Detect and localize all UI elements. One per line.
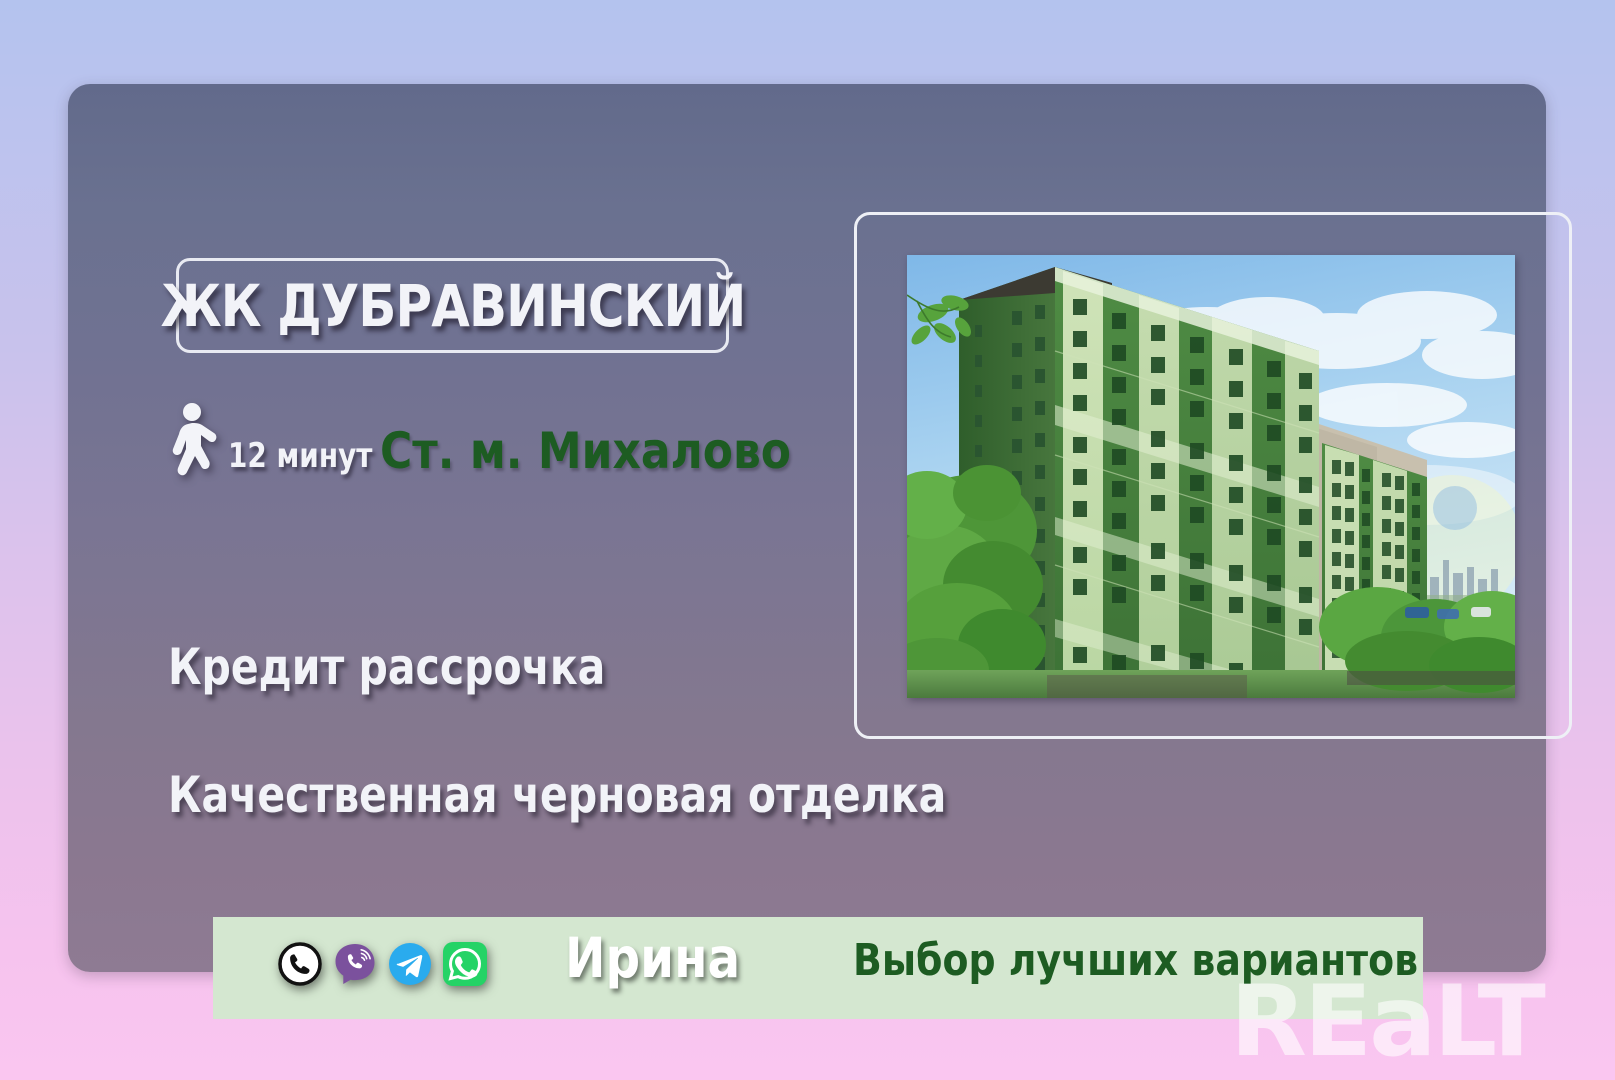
metro-station-label: Ст. м. Михалово [380, 422, 791, 480]
agent-name: Ирина [565, 931, 740, 986]
advertisement-banner: ЖК ДУБРАВИНСКИЙ 12 минут Ст. м. Михалово… [0, 0, 1615, 1080]
pedestrian-walking-icon [168, 402, 222, 484]
building-photo-frame [854, 212, 1572, 739]
walking-minutes-label: 12 минут [228, 436, 372, 476]
page-title: ЖК ДУБРАВИНСКИЙ [160, 277, 745, 335]
complex-title-plate: ЖК ДУБРАВИНСКИЙ [176, 258, 729, 353]
feature-credit-installment: Кредит рассрочка [168, 642, 605, 692]
whatsapp-icon[interactable] [442, 941, 488, 987]
tagline: Выбор лучших вариантов [853, 939, 1418, 983]
watermark-part-3: LT [1434, 965, 1543, 1079]
metro-distance-row: 12 минут Ст. м. Михалово [168, 394, 868, 484]
contact-icons-group [277, 941, 488, 987]
viber-icon[interactable] [332, 941, 378, 987]
phone-icon[interactable] [277, 941, 323, 987]
building-render-photo [907, 255, 1515, 698]
banner-card: ЖК ДУБРАВИНСКИЙ 12 минут Ст. м. Михалово… [68, 84, 1546, 972]
feature-rough-finishing: Качественная черновая отделка [168, 770, 946, 820]
telegram-icon[interactable] [387, 941, 433, 987]
contact-band: Ирина Выбор лучших вариантов [213, 917, 1423, 1019]
